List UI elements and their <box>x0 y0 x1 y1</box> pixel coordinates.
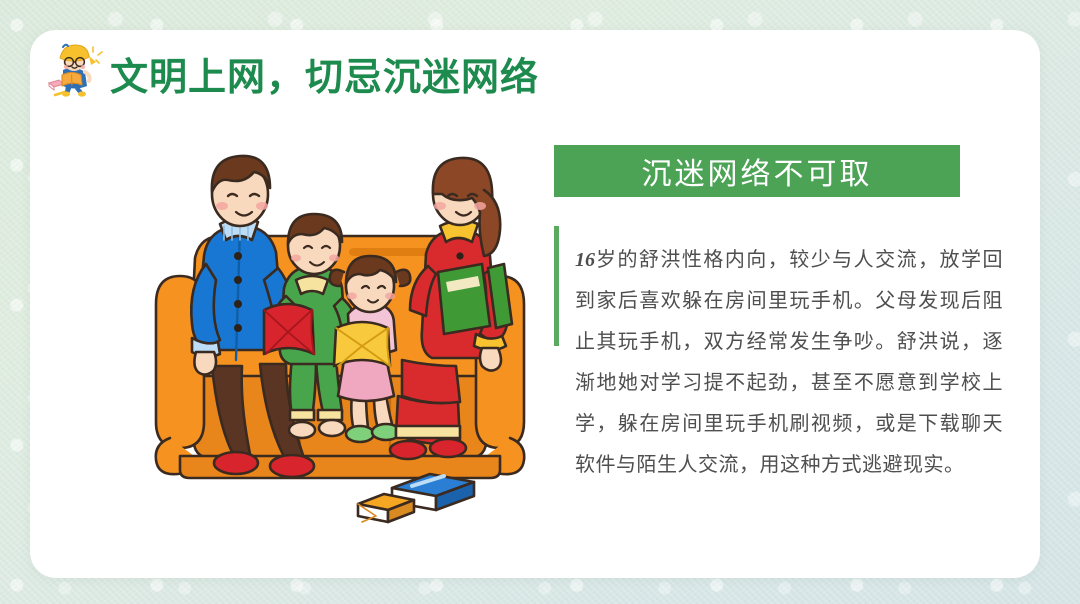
accent-bar <box>554 226 559 346</box>
paragraph-text: 岁的舒洪性格内向，较少与人交流，放学回到家后喜欢躲在房间里玩手机。父母发现后阻止… <box>575 249 1003 476</box>
content-column: 沉迷网络不可取 16岁的舒洪性格内向，较少与人交流，放学回到家后喜欢躲在房间里玩… <box>554 145 1004 506</box>
body-block: 16岁的舒洪性格内向，较少与人交流，放学回到家后喜欢躲在房间里玩手机。父母发现后… <box>554 220 1004 506</box>
section-banner-title: 沉迷网络不可取 <box>642 149 873 193</box>
section-banner: 沉迷网络不可取 <box>554 145 960 197</box>
content-card: 文明上网，切忌沉迷网络 <box>30 30 1040 578</box>
family-reading-on-sofa-illustration <box>140 138 540 528</box>
page-title: 文明上网，切忌沉迷网络 <box>110 46 539 101</box>
body-paragraph: 16岁的舒洪性格内向，较少与人交流，放学回到家后喜欢躲在房间里玩手机。父母发现后… <box>575 240 1003 486</box>
page-header: 文明上网，切忌沉迷网络 <box>42 38 539 108</box>
paragraph-number: 16 <box>575 249 595 271</box>
child-reading-book-icon <box>42 40 108 106</box>
